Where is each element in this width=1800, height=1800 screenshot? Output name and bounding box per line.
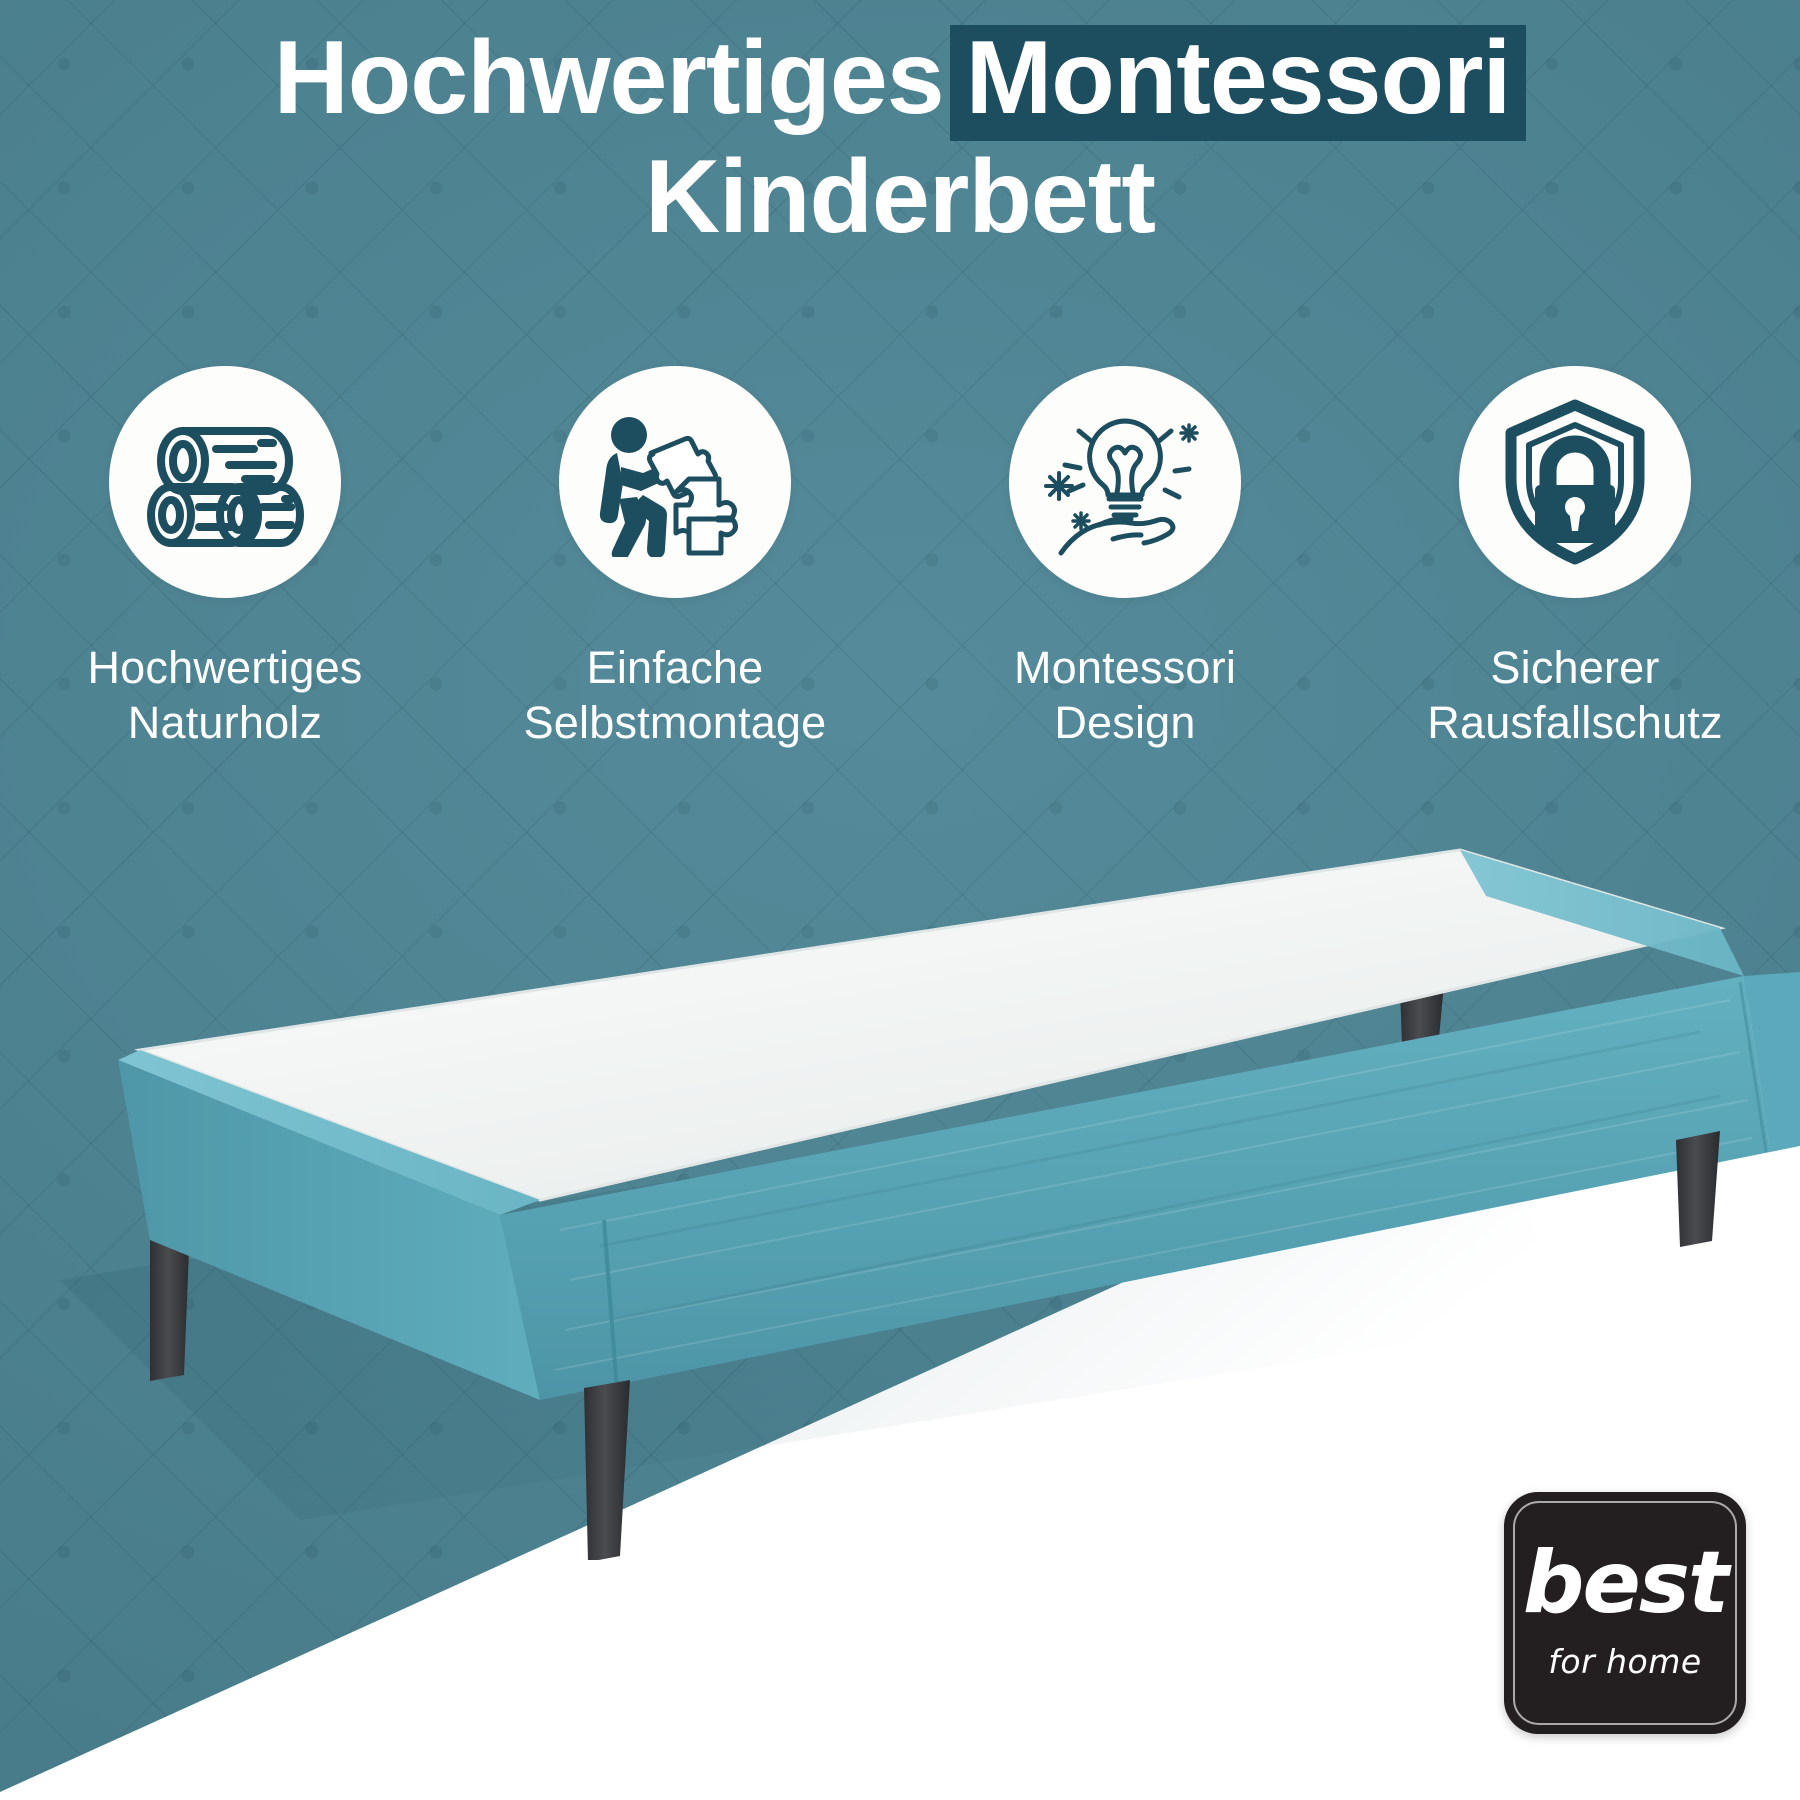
feature-row: Hochwertiges Naturholz [0, 366, 1800, 751]
feature-icon-circle [1009, 366, 1241, 598]
shield-lock-icon [1495, 397, 1655, 567]
feature-label: Sicherer Rausfallschutz [1427, 640, 1722, 751]
headline-line-2: Kinderbett [0, 143, 1800, 251]
feature-icon-circle [109, 366, 341, 598]
headline-plain-text: Hochwertiges [274, 20, 944, 136]
assembly-puzzle-person-icon [591, 407, 759, 557]
feature-item-naturholz: Hochwertiges Naturholz [0, 366, 450, 751]
brand-logo: best for home [1504, 1492, 1746, 1734]
promo-image: HochwertigesMontessori Kinderbett [0, 0, 1800, 1800]
feature-label: Montessori Design [1014, 640, 1236, 751]
logo-wordmark: best [1504, 1540, 1746, 1626]
wood-logs-icon [141, 415, 309, 549]
headline-highlight-text: Montessori [950, 25, 1527, 141]
feature-label: Einfache Selbstmontage [524, 640, 827, 751]
feature-label: Hochwertiges Naturholz [87, 640, 362, 751]
feature-icon-circle [559, 366, 791, 598]
feature-item-selbstmontage: Einfache Selbstmontage [450, 366, 900, 751]
logo-tagline: for home [1504, 1642, 1746, 1681]
feature-icon-circle [1459, 366, 1691, 598]
headline-block: HochwertigesMontessori Kinderbett [0, 24, 1800, 251]
product-bed-image [0, 760, 1800, 1560]
lightbulb-hand-idea-icon [1039, 407, 1211, 557]
feature-item-montessori-design: Montessori Design [900, 366, 1350, 751]
headline-line-1: HochwertigesMontessori [0, 24, 1800, 141]
feature-item-rausfallschutz: Sicherer Rausfallschutz [1350, 366, 1800, 751]
